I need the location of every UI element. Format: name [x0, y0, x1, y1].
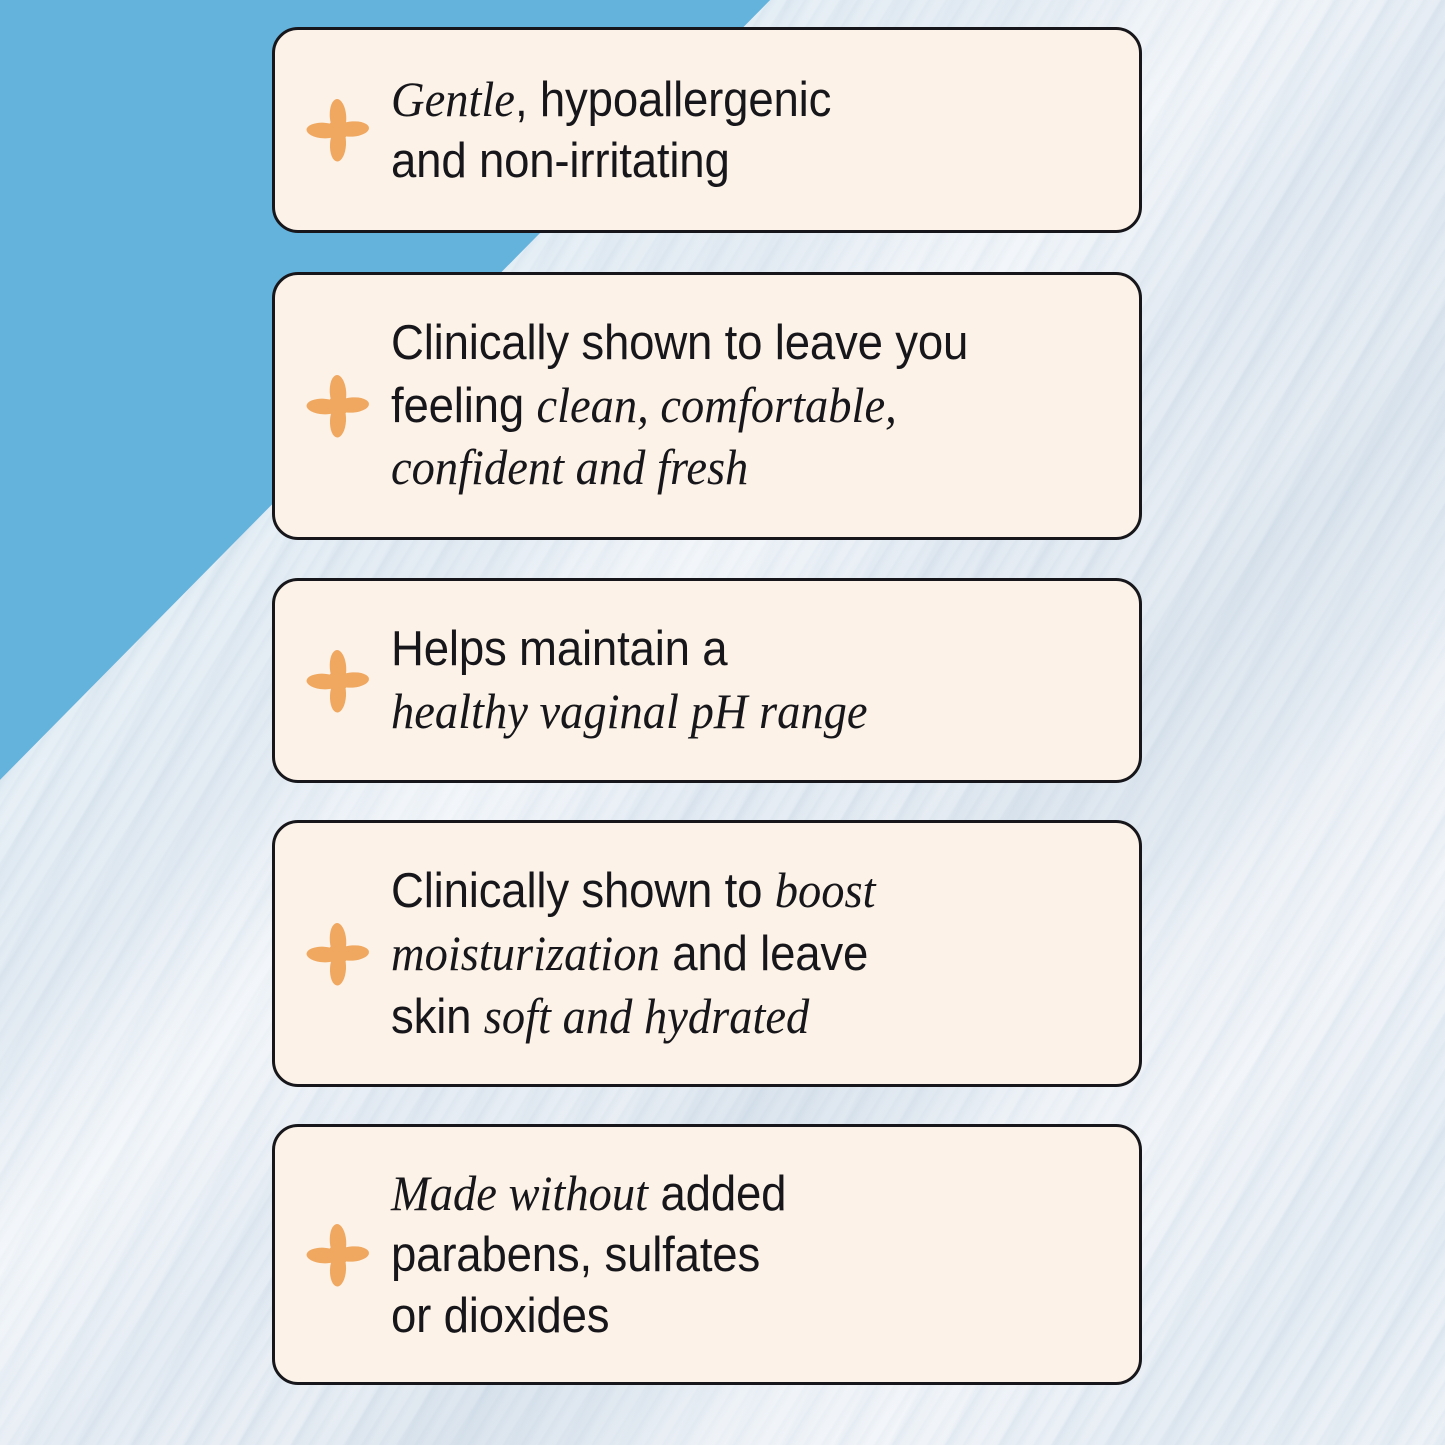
plus-icon [301, 917, 375, 991]
benefit-card-body: Clinically shown to boostmoisturization … [272, 820, 1142, 1087]
benefit-text: Clinically shown to boostmoisturization … [391, 859, 1066, 1047]
benefit-card-body: Gentle, hypoallergenicand non-irritating [272, 27, 1142, 233]
benefits-graphic: Gentle, hypoallergenicand non-irritating… [0, 0, 1445, 1445]
benefit-card-body: Helps maintain ahealthy vaginal pH range [272, 578, 1142, 783]
plus-icon [301, 93, 375, 167]
plus-icon [301, 644, 375, 718]
plus-icon [301, 369, 375, 443]
benefit-text: Helps maintain ahealthy vaginal pH range [391, 619, 1066, 743]
benefits-card-list: Gentle, hypoallergenicand non-irritating… [272, 0, 1160, 1445]
benefit-text: Clinically shown to leave youfeeling cle… [391, 313, 1066, 499]
plus-icon [301, 1218, 375, 1292]
benefit-text: Made without addedparabens, sulfatesor d… [391, 1162, 1066, 1346]
benefit-card-body: Made without addedparabens, sulfatesor d… [272, 1124, 1142, 1385]
benefit-card-body: Clinically shown to leave youfeeling cle… [272, 272, 1142, 540]
benefit-text: Gentle, hypoallergenicand non-irritating [391, 68, 1066, 192]
